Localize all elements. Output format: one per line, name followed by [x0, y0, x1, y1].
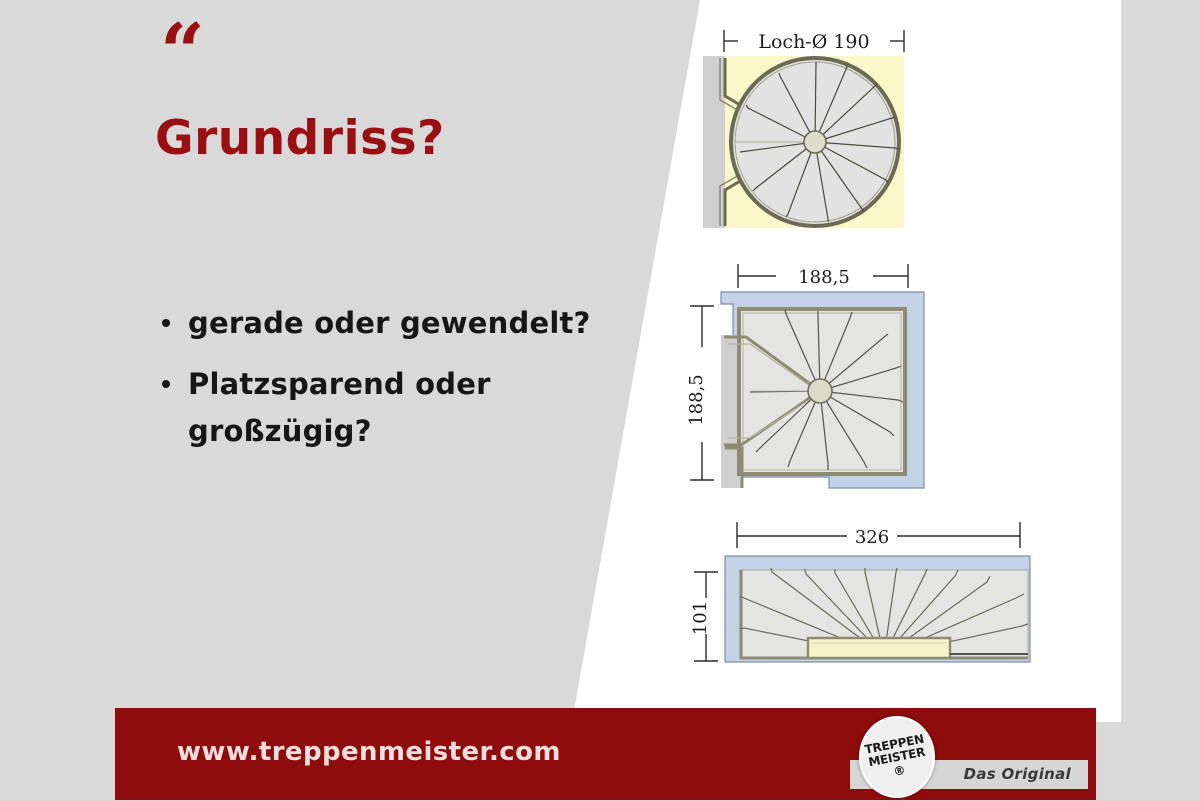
dimension-label-loch: Loch-Ø 190: [758, 31, 869, 53]
dimension-label-depth: 101: [690, 601, 711, 635]
slide-root: “ Grundriss? gerade oder gewendelt? Plat…: [0, 0, 1200, 800]
website-url[interactable]: www.treppenmeister.com: [177, 737, 561, 767]
list-item-label: gerade oder gewendelt?: [188, 306, 591, 340]
footer-bar: www.treppenmeister.com Das Original TREP…: [115, 708, 1096, 800]
page-title: Grundriss?: [155, 113, 445, 165]
treppenmeister-logo: Das Original TREPPEN MEISTER®: [843, 713, 1093, 801]
list-item: gerade oder gewendelt?: [188, 300, 638, 347]
bullet-dot-icon: [162, 380, 170, 388]
list-item: Platzsparend oder großzügig?: [188, 361, 638, 455]
logo-tagline: Das Original: [964, 765, 1071, 783]
drawing-square-winder-staircase-plan: 188,5 188,5: [668, 252, 958, 502]
drawing-spiral-staircase-plan: Loch-Ø 190: [676, 8, 956, 248]
dimension-label-width: 188,5: [798, 267, 850, 288]
text-column: “ Grundriss? gerade oder gewendelt? Plat…: [0, 0, 620, 708]
list-item-label: Platzsparend oder großzügig?: [188, 367, 491, 448]
dimension-label-width: 326: [855, 527, 889, 548]
bullet-list: gerade oder gewendelt? Platzsparend oder…: [160, 300, 638, 469]
logo-badge-circle: TREPPEN MEISTER®: [859, 716, 935, 798]
dimension-label-depth: 188,5: [686, 374, 707, 426]
bullet-dot-icon: [162, 319, 170, 327]
drawing-straight-winder-staircase-plan: 326 101: [672, 506, 1032, 696]
quote-mark-icon: “: [160, 14, 203, 92]
